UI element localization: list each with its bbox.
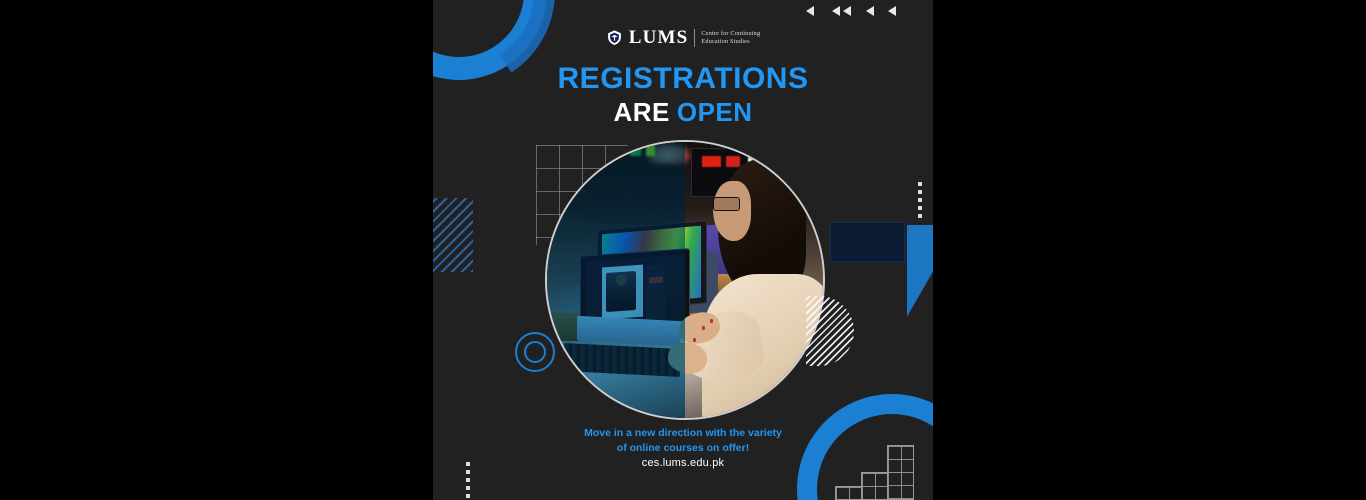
lums-shield-logo-icon <box>606 29 623 46</box>
headline-line-2: AREOPEN <box>433 99 933 125</box>
tagline-line-1: Move in a new direction with the variety <box>433 426 933 441</box>
tagline: Move in a new direction with the variety… <box>433 426 933 456</box>
headline-are: ARE <box>613 97 669 127</box>
headline-block: REGISTRATIONS AREOPEN <box>433 64 933 125</box>
tagline-line-2: of online courses on offer! <box>433 441 933 456</box>
play-left-triangle-icon <box>888 6 896 16</box>
play-left-triangle-icon <box>866 6 874 16</box>
play-left-triangle-icon <box>832 6 840 16</box>
logo-unit-line-2: Education Studies <box>701 38 760 46</box>
website-url[interactable]: ces.lums.edu.pk <box>433 457 933 469</box>
dot-column-right <box>918 182 922 218</box>
logo-unit-line-1: Centre for Continuing <box>701 30 760 38</box>
screenshot-canvas: LUMS Centre for Continuing Education Stu… <box>0 0 1366 500</box>
lums-logo: LUMS Centre for Continuing Education Stu… <box>433 28 933 47</box>
promo-poster: LUMS Centre for Continuing Education Stu… <box>433 0 933 500</box>
play-left-triangle-icon <box>806 6 814 16</box>
logo-divider <box>694 29 695 47</box>
right-edge-blue-wedge <box>907 225 933 345</box>
play-left-triangle-icon <box>843 6 851 16</box>
lums-wordmark: LUMS <box>629 28 689 47</box>
striped-halfdisc-icon <box>806 296 854 366</box>
photo-scene <box>547 142 823 418</box>
navy-accent-rectangle <box>830 222 905 262</box>
headline-open: OPEN <box>677 97 753 127</box>
logo-unit-name: Centre for Continuing Education Studies <box>701 30 760 46</box>
diagonal-hatch-icon <box>433 198 473 272</box>
circular-photo <box>545 140 825 420</box>
concentric-circle-inner-icon <box>524 341 546 363</box>
headline-line-1: REGISTRATIONS <box>433 64 933 94</box>
